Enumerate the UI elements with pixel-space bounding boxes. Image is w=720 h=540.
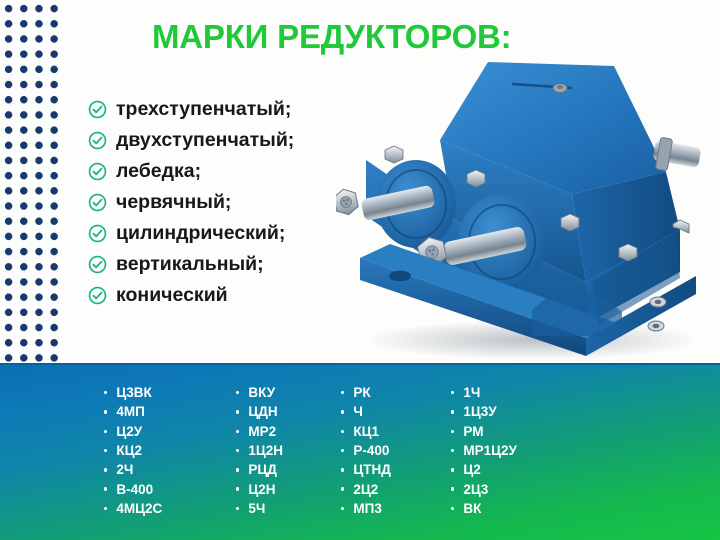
- bullet-icon: [341, 468, 344, 471]
- check-circle-icon: [88, 100, 107, 119]
- brand-list-item: ВКУ: [236, 383, 341, 402]
- brand-column: ВКУЦДНМР21Ц2НРЦДЦ2Н5Ч: [236, 383, 341, 518]
- bullet-icon: [104, 391, 107, 394]
- check-circle-icon: [88, 131, 107, 150]
- band-divider: [0, 363, 720, 365]
- brand-label: Р-400: [353, 443, 389, 458]
- gearbox-illustration: [336, 44, 720, 364]
- bullet-icon: [104, 487, 107, 490]
- reducer-type-item: цилиндрический;: [88, 218, 378, 249]
- brand-list-item: 2Ц3: [451, 479, 591, 498]
- bullet-icon: [451, 487, 454, 490]
- bullet-icon: [236, 391, 239, 394]
- brand-list-item: ВК: [451, 499, 591, 518]
- brand-list-item: РК: [341, 383, 451, 402]
- brand-list-item: КЦ1: [341, 422, 451, 441]
- reducer-type-label: двухступенчатый;: [116, 131, 294, 151]
- brand-list-item: Ч: [341, 402, 451, 421]
- brand-label: Ц3ВК: [116, 385, 151, 400]
- brand-label: РК: [353, 385, 370, 400]
- brand-list-item: МП3: [341, 499, 451, 518]
- bullet-icon: [341, 430, 344, 433]
- brand-list-item: 1Ч: [451, 383, 591, 402]
- brand-label: ВК: [463, 501, 481, 516]
- brand-list-item: 1Ц3У: [451, 402, 591, 421]
- brand-label: 1Ц2Н: [248, 443, 283, 458]
- check-circle-icon: [88, 224, 107, 243]
- bullet-icon: [341, 507, 344, 510]
- bullet-icon: [341, 391, 344, 394]
- check-circle-icon: [88, 286, 107, 305]
- brand-label: В-400: [116, 482, 153, 497]
- brand-list-item: 1Ц2Н: [236, 441, 341, 460]
- brand-list-item: ЦДН: [236, 402, 341, 421]
- brand-label: Ч: [353, 404, 363, 419]
- brand-label: 4МП: [116, 404, 144, 419]
- brand-label: Ц2Н: [248, 482, 275, 497]
- reducer-type-label: конический: [116, 286, 228, 306]
- brand-label: 4МЦ2С: [116, 501, 162, 516]
- check-circle-icon: [88, 162, 107, 181]
- bullet-icon: [341, 449, 344, 452]
- brand-label: 2Ц2: [353, 482, 378, 497]
- reducer-type-label: цилиндрический;: [116, 224, 285, 244]
- brand-label: Ц2У: [116, 424, 142, 439]
- bullet-icon: [236, 468, 239, 471]
- bullet-icon: [104, 430, 107, 433]
- bullet-icon: [236, 507, 239, 510]
- brand-list-item: КЦ2: [104, 441, 236, 460]
- brand-column: РКЧКЦ1Р-400ЦТНД2Ц2МП3: [341, 383, 451, 518]
- brand-list-item: 4МЦ2С: [104, 499, 236, 518]
- check-circle-icon: [88, 193, 107, 212]
- check-circle-icon: [88, 255, 107, 274]
- bullet-icon: [451, 468, 454, 471]
- poster-canvas: МАРКИ РЕДУКТОРОВ: трехступенчатый;двухст…: [0, 0, 720, 540]
- reducer-type-item: лебедка;: [88, 156, 378, 187]
- bullet-icon: [451, 410, 454, 413]
- brand-label: 1Ч: [463, 385, 480, 400]
- brand-label: ЦТНД: [353, 462, 390, 477]
- brand-label: МР1Ц2У: [463, 443, 517, 458]
- reducer-type-list: трехступенчатый;двухступенчатый;лебедка;…: [88, 94, 378, 311]
- reducer-type-label: трехступенчатый;: [116, 100, 291, 120]
- brand-list-item: ЦТНД: [341, 460, 451, 479]
- reducer-type-item: трехступенчатый;: [88, 94, 378, 125]
- brand-list-item: Ц2Н: [236, 479, 341, 498]
- reducer-type-item: конический: [88, 280, 378, 311]
- brand-list-item: МР1Ц2У: [451, 441, 591, 460]
- bullet-icon: [104, 507, 107, 510]
- brand-list-item: 4МП: [104, 402, 236, 421]
- bullet-icon: [451, 507, 454, 510]
- reducer-type-item: двухступенчатый;: [88, 125, 378, 156]
- brand-label: КЦ2: [116, 443, 142, 458]
- bullet-icon: [451, 449, 454, 452]
- brand-list-item: Ц3ВК: [104, 383, 236, 402]
- brand-list-item: РЦД: [236, 460, 341, 479]
- brand-list-band: Ц3ВК4МПЦ2УКЦ22ЧВ-4004МЦ2СВКУЦДНМР21Ц2НРЦ…: [0, 363, 720, 540]
- reducer-type-item: червячный;: [88, 187, 378, 218]
- brand-column: Ц3ВК4МПЦ2УКЦ22ЧВ-4004МЦ2С: [104, 383, 236, 518]
- brand-list-item: Р-400: [341, 441, 451, 460]
- brand-label: МР2: [248, 424, 276, 439]
- brand-label: Ц2: [463, 462, 480, 477]
- reducer-type-item: вертикальный;: [88, 249, 378, 280]
- bullet-icon: [236, 410, 239, 413]
- bullet-icon: [341, 487, 344, 490]
- brand-list-item: В-400: [104, 479, 236, 498]
- brand-list-item: Ц2У: [104, 422, 236, 441]
- brand-label: РМ: [463, 424, 483, 439]
- brand-columns: Ц3ВК4МПЦ2УКЦ22ЧВ-4004МЦ2СВКУЦДНМР21Ц2НРЦ…: [0, 383, 720, 518]
- bullet-icon: [236, 449, 239, 452]
- brand-label: МП3: [353, 501, 381, 516]
- brand-label: ЦДН: [248, 404, 277, 419]
- bullet-icon: [236, 430, 239, 433]
- brand-label: РЦД: [248, 462, 276, 477]
- brand-label: КЦ1: [353, 424, 379, 439]
- decorative-dot-pattern: [0, 0, 58, 364]
- brand-list-item: 2Ч: [104, 460, 236, 479]
- bullet-icon: [104, 410, 107, 413]
- brand-label: 5Ч: [248, 501, 265, 516]
- brand-label: 2Ц3: [463, 482, 488, 497]
- reducer-type-label: лебедка;: [116, 162, 201, 182]
- brand-label: ВКУ: [248, 385, 275, 400]
- brand-list-item: 2Ц2: [341, 479, 451, 498]
- brand-list-item: Ц2: [451, 460, 591, 479]
- bullet-icon: [104, 449, 107, 452]
- reducer-type-label: вертикальный;: [116, 255, 264, 275]
- bullet-icon: [451, 391, 454, 394]
- reducer-type-label: червячный;: [116, 193, 231, 213]
- bullet-icon: [236, 487, 239, 490]
- brand-list-item: РМ: [451, 422, 591, 441]
- bullet-icon: [104, 468, 107, 471]
- brand-list-item: 5Ч: [236, 499, 341, 518]
- brand-label: 2Ч: [116, 462, 133, 477]
- brand-column: 1Ч1Ц3УРММР1Ц2УЦ22Ц3ВК: [451, 383, 591, 518]
- bullet-icon: [341, 410, 344, 413]
- brand-list-item: МР2: [236, 422, 341, 441]
- bullet-icon: [451, 430, 454, 433]
- brand-label: 1Ц3У: [463, 404, 496, 419]
